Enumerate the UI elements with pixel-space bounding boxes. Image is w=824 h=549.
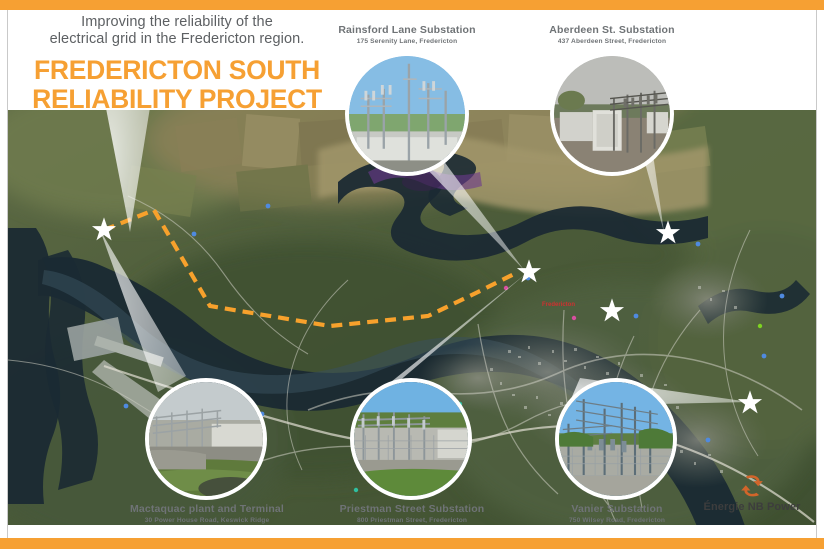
page-title-line-1: FREDERICTON SOUTH bbox=[12, 56, 342, 85]
subheadline: Improving the reliability of the electri… bbox=[12, 14, 342, 48]
map-city-label: Fredericton bbox=[542, 302, 575, 308]
site-address: 30 Power House Road, Keswick Ridge bbox=[117, 516, 297, 526]
caption-rainsford-lane-substation: Rainsford Lane Substation 175 Serenity L… bbox=[317, 24, 497, 47]
photo-aberdeen-st-substation[interactable] bbox=[550, 52, 674, 176]
bottom-accent-bar bbox=[0, 538, 824, 549]
caption-aberdeen-st-substation: Aberdeen St. Substation 437 Aberdeen Str… bbox=[522, 24, 702, 47]
page-title: FREDERICTON SOUTH RELIABILITY PROJECT bbox=[12, 56, 342, 114]
site-name: Aberdeen St. Substation bbox=[522, 24, 702, 36]
photo-vanier-substation[interactable] bbox=[555, 378, 677, 500]
page-title-line-2: RELIABILITY PROJECT bbox=[12, 85, 342, 114]
site-name: Rainsford Lane Substation bbox=[317, 24, 497, 36]
site-address: 437 Aberdeen Street, Fredericton bbox=[522, 37, 702, 47]
site-address: 175 Serenity Lane, Fredericton bbox=[317, 37, 497, 47]
top-accent-bar bbox=[0, 0, 824, 10]
photo-mactaquac-plant-and-terminal[interactable] bbox=[145, 378, 267, 500]
header-block: Improving the reliability of the electri… bbox=[12, 14, 342, 114]
nb-power-wordmark: Énergie NB Power bbox=[697, 501, 807, 513]
nb-power-logo: Énergie NB Power bbox=[697, 473, 807, 521]
caption-vanier-substation: Vanier Substation 750 Wilsey Road, Frede… bbox=[527, 503, 707, 526]
site-name: Vanier Substation bbox=[527, 503, 707, 515]
subheadline-line-1: Improving the reliability of the bbox=[12, 14, 342, 31]
subheadline-line-2: electrical grid in the Fredericton regio… bbox=[12, 31, 342, 48]
photo-priestman-street-substation[interactable] bbox=[350, 378, 472, 500]
caption-priestman-street-substation: Priestman Street Substation 800 Priestma… bbox=[322, 503, 502, 526]
site-address: 800 Priestman Street, Fredericton bbox=[322, 516, 502, 526]
photo-rainsford-lane-substation[interactable] bbox=[345, 52, 469, 176]
site-name: Priestman Street Substation bbox=[322, 503, 502, 515]
nb-power-arrows-icon bbox=[697, 473, 807, 499]
site-name: Mactaquac plant and Terminal bbox=[117, 503, 297, 515]
caption-mactaquac-plant-and-terminal: Mactaquac plant and Terminal 30 Power Ho… bbox=[117, 503, 297, 526]
site-address: 750 Wilsey Road, Fredericton bbox=[527, 516, 707, 526]
poster-root: Fredericton bbox=[0, 0, 824, 549]
right-rule bbox=[816, 10, 817, 538]
